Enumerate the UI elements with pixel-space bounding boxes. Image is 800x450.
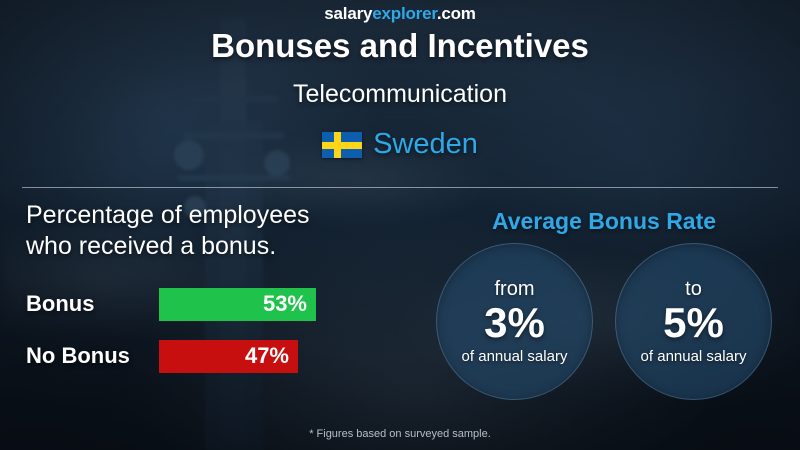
bonus-rate-to-value: 5% bbox=[663, 301, 724, 345]
bar-label-bonus: Bonus bbox=[26, 291, 94, 317]
bonus-bar-chart: Bonus 53% No Bonus 47% bbox=[26, 288, 316, 392]
bar-label-no-bonus: No Bonus bbox=[26, 343, 130, 369]
bonus-rate-from-prefix: from bbox=[495, 279, 535, 299]
bonus-chart-heading-line1: Percentage of employees bbox=[26, 200, 426, 231]
footnote: * Figures based on surveyed sample. bbox=[0, 428, 800, 440]
bonus-rate-from-caption: of annual salary bbox=[462, 349, 568, 364]
bonus-rate-circle-to: to 5% of annual salary bbox=[615, 243, 772, 400]
brand-part-salary: salary bbox=[324, 4, 372, 23]
bonus-rate-from-value: 3% bbox=[484, 301, 545, 345]
country-row: Sweden bbox=[0, 128, 800, 161]
bar-track-no-bonus: 47% bbox=[159, 340, 298, 373]
bar-row-bonus: Bonus 53% bbox=[26, 288, 316, 321]
page-title: Bonuses and Incentives bbox=[0, 27, 800, 65]
bar-value-no-bonus: 47% bbox=[245, 343, 289, 369]
country-label: Sweden bbox=[373, 128, 478, 161]
page-subtitle: Telecommunication bbox=[0, 80, 800, 109]
brand-part-domain: .com bbox=[437, 4, 476, 23]
bonus-rate-to-prefix: to bbox=[685, 279, 702, 299]
bonus-chart-heading: Percentage of employees who received a b… bbox=[26, 200, 426, 261]
bonus-rate-circle-from: from 3% of annual salary bbox=[436, 243, 593, 400]
brand-part-explorer: explorer bbox=[372, 4, 437, 23]
bar-row-no-bonus: No Bonus 47% bbox=[26, 340, 316, 373]
bar-fill-bonus: 53% bbox=[159, 288, 316, 321]
bar-track-bonus: 53% bbox=[159, 288, 316, 321]
infographic-canvas: salaryexplorer.com Bonuses and Incentive… bbox=[0, 0, 800, 450]
average-bonus-rate-circles: from 3% of annual salary to 5% of annual… bbox=[420, 243, 788, 400]
bar-value-bonus: 53% bbox=[263, 291, 307, 317]
site-brand: salaryexplorer.com bbox=[0, 4, 800, 24]
section-divider bbox=[22, 187, 778, 188]
bar-fill-no-bonus: 47% bbox=[159, 340, 298, 373]
bonus-rate-to-caption: of annual salary bbox=[641, 349, 747, 364]
sweden-flag-icon bbox=[322, 132, 362, 158]
average-bonus-rate-heading: Average Bonus Rate bbox=[420, 208, 788, 235]
bonus-chart-heading-line2: who received a bonus. bbox=[26, 231, 426, 262]
